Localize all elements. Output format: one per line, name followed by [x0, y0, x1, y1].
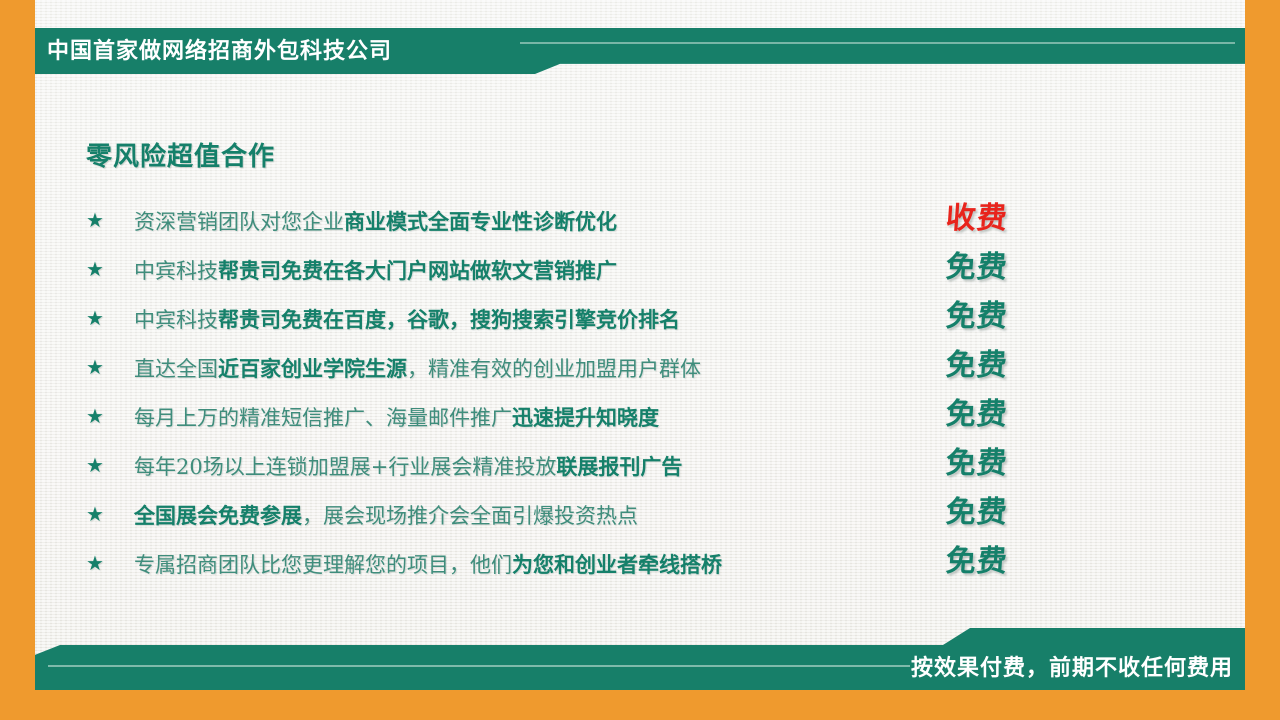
list-item-text-bold: 迅速提升知晓度 [512, 405, 659, 430]
list-item-text-bold: 全国展会免费参展 [134, 503, 302, 528]
price-tag-label: 免费 [944, 487, 1009, 531]
price-tag: 免费 [946, 337, 1086, 386]
price-tag: 免费 [946, 239, 1086, 288]
price-tag-label: 收费 [944, 193, 1009, 237]
list-item-text-normal: 每年20场以上连锁加盟展+行业展会精准投放 [134, 455, 556, 479]
list-item: ★ 每月上万的精准短信推广、海量邮件推广迅速提升知晓度 [86, 392, 1086, 441]
star-icon: ★ [86, 358, 108, 378]
list-item-text: 全国展会免费参展，展会现场推介会全面引爆投资热点 [134, 500, 638, 530]
price-tag-label: 免费 [944, 340, 1009, 384]
price-tag-label: 免费 [944, 389, 1009, 433]
footer-tagline: 按效果付费，前期不收任何费用 [911, 645, 1233, 690]
list-item-text-bold: 商业模式全面专业性诊断优化 [344, 209, 617, 234]
list-item-text-bold: 帮贵司免费在百度，谷歌，搜狗搜索引擎竞价排名 [218, 307, 680, 332]
list-item-text: 专属招商团队比您更理解您的项目，他们为您和创业者牵线搭桥 [134, 549, 722, 579]
star-icon: ★ [86, 211, 108, 231]
star-icon: ★ [86, 505, 108, 525]
footer-hairline-divider [48, 665, 910, 667]
list-item: ★ 全国展会免费参展，展会现场推介会全面引爆投资热点 [86, 490, 1086, 539]
list-item-text: 中宾科技帮贵司免费在百度，谷歌，搜狗搜索引擎竞价排名 [134, 304, 680, 334]
price-tag: 免费 [946, 435, 1086, 484]
star-icon: ★ [86, 309, 108, 329]
list-item-text-normal: 直达全国 [134, 357, 218, 381]
price-tag-label: 免费 [944, 438, 1009, 482]
list-item: ★ 中宾科技帮贵司免费在各大门户网站做软文营销推广 [86, 245, 1086, 294]
header-hairline-divider [520, 42, 1235, 44]
list-item-text-normal: 每月上万的精准短信推广、海量邮件推广 [134, 406, 512, 430]
list-item-text: 每年20场以上连锁加盟展+行业展会精准投放联展报刊广告 [134, 451, 682, 481]
slide-canvas: 中国首家做网络招商外包科技公司 零风险超值合作 ★ 资深营销团队对您企业商业模式… [0, 0, 1280, 720]
benefits-list: ★ 资深营销团队对您企业商业模式全面专业性诊断优化 ★ 中宾科技帮贵司免费在各大… [86, 196, 1086, 588]
page-title: 零风险超值合作 [86, 136, 275, 173]
price-tag-column: 收费 免费 免费 免费 免费 免费 免费 免费 [946, 190, 1086, 582]
list-item-text: 资深营销团队对您企业商业模式全面专业性诊断优化 [134, 206, 617, 236]
list-item: ★ 每年20场以上连锁加盟展+行业展会精准投放联展报刊广告 [86, 441, 1086, 490]
price-tag-label: 免费 [944, 242, 1009, 286]
list-item-text-normal: 中宾科技 [134, 308, 218, 332]
list-item: ★ 直达全国近百家创业学院生源，精准有效的创业加盟用户群体 [86, 343, 1086, 392]
list-item-text-bold: 联展报刊广告 [556, 454, 682, 479]
list-item-text-bold: 帮贵司免费在各大门户网站做软文营销推广 [218, 258, 617, 283]
price-tag-label: 免费 [944, 291, 1009, 335]
list-item-text-tail: ，精准有效的创业加盟用户群体 [407, 357, 701, 381]
star-icon: ★ [86, 260, 108, 280]
list-item-text-bold: 为您和创业者牵线搭桥 [512, 552, 722, 577]
star-icon: ★ [86, 554, 108, 574]
list-item-text-bold: 近百家创业学院生源 [218, 356, 407, 381]
header-title: 中国首家做网络招商外包科技公司 [47, 28, 392, 74]
list-item-text: 直达全国近百家创业学院生源，精准有效的创业加盟用户群体 [134, 353, 701, 383]
price-tag: 免费 [946, 533, 1086, 582]
list-item: ★ 中宾科技帮贵司免费在百度，谷歌，搜狗搜索引擎竞价排名 [86, 294, 1086, 343]
star-icon: ★ [86, 407, 108, 427]
price-tag: 免费 [946, 288, 1086, 337]
list-item-text-normal: 资深营销团队对您企业 [134, 210, 344, 234]
price-tag: 免费 [946, 484, 1086, 533]
price-tag: 免费 [946, 386, 1086, 435]
list-item: ★ 资深营销团队对您企业商业模式全面专业性诊断优化 [86, 196, 1086, 245]
list-item-text-normal: 专属招商团队比您更理解您的项目，他们 [134, 553, 512, 577]
list-item: ★ 专属招商团队比您更理解您的项目，他们为您和创业者牵线搭桥 [86, 539, 1086, 588]
list-item-text-normal: 中宾科技 [134, 259, 218, 283]
list-item-text: 每月上万的精准短信推广、海量邮件推广迅速提升知晓度 [134, 402, 659, 432]
list-item-text-tail: ，展会现场推介会全面引爆投资热点 [302, 504, 638, 528]
price-tag-label: 免费 [944, 536, 1009, 580]
star-icon: ★ [86, 456, 108, 476]
price-tag: 收费 [946, 190, 1086, 239]
list-item-text: 中宾科技帮贵司免费在各大门户网站做软文营销推广 [134, 255, 617, 285]
